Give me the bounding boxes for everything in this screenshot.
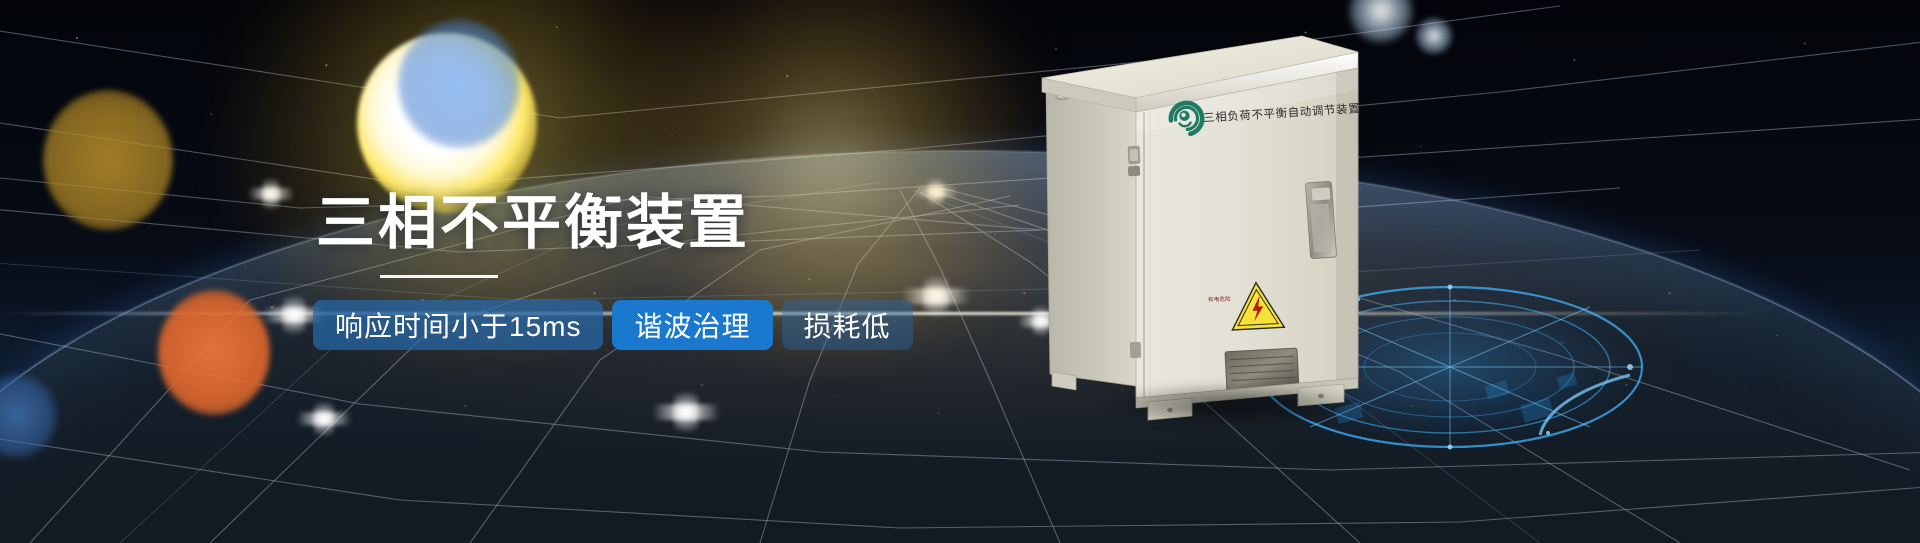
feature-tag-row: 响应时间小于15ms 谐波治理 损耗低 (313, 300, 1016, 350)
hero-text-block: 三相不平衡装置 响应时间小于15ms 谐波治理 损耗低 (316, 192, 1016, 350)
title-divider (380, 275, 498, 278)
bokeh-orange-circle (158, 290, 270, 415)
mesh-node-sparkle (285, 395, 363, 443)
hero-banner: 三相负荷不平衡自动调节装置 有电危险 三相不平衡装置 响应时间小于15ms 谐波… (0, 0, 1920, 543)
feature-tag-low-loss[interactable]: 损耗低 (782, 300, 913, 350)
feature-tag-harmonic-treatment[interactable]: 谐波治理 (612, 300, 772, 350)
feature-tag-response-time[interactable]: 响应时间小于15ms (313, 300, 603, 350)
cabinet-illustration (1040, 6, 1460, 436)
outdoor-control-cabinet: 三相负荷不平衡自动调节装置 有电危险 (1040, 6, 1460, 436)
bokeh-amber-circle (43, 90, 173, 230)
cabinet-ground-shadow (1070, 378, 1400, 432)
banner-title: 三相不平衡装置 (316, 192, 1016, 255)
door-hinge-lower (1130, 342, 1142, 358)
bokeh-blue-circle (398, 20, 520, 148)
door-handle-recess (1305, 181, 1336, 259)
warning-label-text: 有电危险 (1208, 295, 1231, 304)
door-hinge-upper (1128, 146, 1141, 177)
cabinet-side-panel (1046, 68, 1136, 390)
mesh-node-sparkle (638, 384, 734, 440)
